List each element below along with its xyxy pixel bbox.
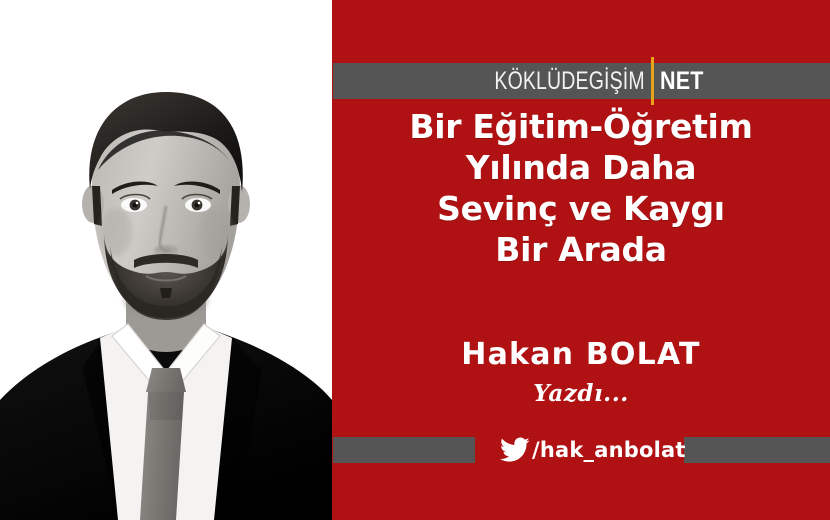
headline-line-2: Yılında Daha <box>332 147 830 188</box>
author-photo-pane <box>0 0 332 520</box>
social-handle-text: /hak_anbolat <box>532 438 686 462</box>
social-bar-right-segment <box>684 437 830 463</box>
logo-secondary-text: NET <box>660 69 704 94</box>
social-handle-group[interactable]: /hak_anbolat <box>500 430 680 470</box>
headline-pane: KÖKLÜDEGİŞİM NET Bir Eğitim-Öğretim Yılı… <box>332 0 830 520</box>
headline-line-3: Sevinç ve Kaygı <box>332 188 830 229</box>
vertical-divider-icon <box>651 57 654 105</box>
article-headline: Bir Eğitim-Öğretim Yılında Daha Sevinç v… <box>332 106 830 270</box>
twitter-bird-icon[interactable] <box>500 437 530 463</box>
article-banner: KÖKLÜDEGİŞİM NET Bir Eğitim-Öğretim Yılı… <box>0 0 830 520</box>
headline-line-4: Bir Arada <box>332 229 830 270</box>
author-name: Hakan BOLAT <box>332 337 830 372</box>
portrait-photo <box>0 0 332 520</box>
site-logo[interactable]: KÖKLÜDEGİŞİM NET <box>332 62 830 100</box>
headline-line-1: Bir Eğitim-Öğretim <box>332 106 830 147</box>
social-bar-left-segment <box>333 437 475 463</box>
author-byline: Yazdı... <box>332 380 830 407</box>
logo-primary-text: KÖKLÜDEGİŞİM <box>494 69 644 94</box>
